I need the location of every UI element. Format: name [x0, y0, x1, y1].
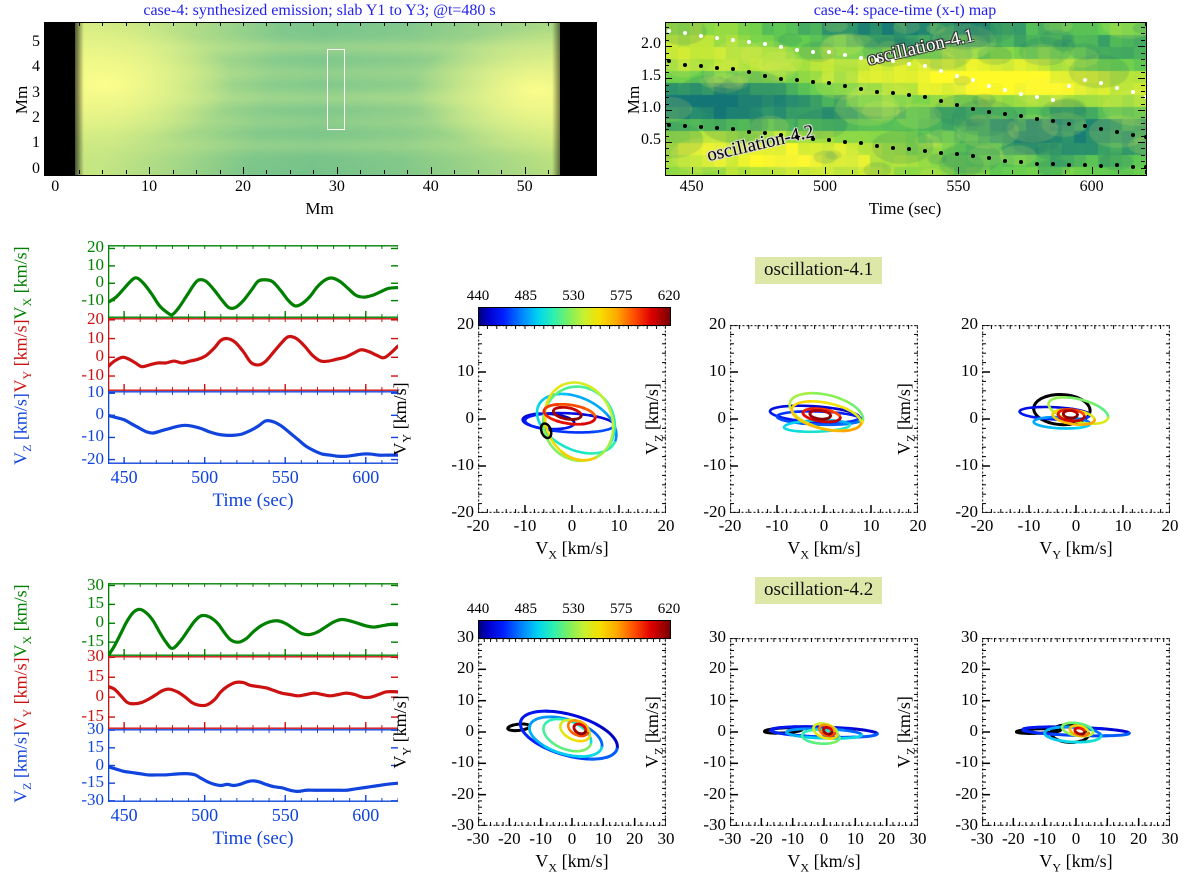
xtmap-track-dot: [1115, 130, 1119, 134]
emission-x-minor-tick: [220, 170, 221, 174]
xtmap-y-minor-tick: [1141, 110, 1145, 111]
timeseries-y-tick: 15: [68, 593, 104, 613]
timeseries-x-tick: 600: [338, 467, 394, 488]
emission-x-tick: 50: [503, 178, 547, 196]
xtmap-x-minor-tick: [852, 22, 853, 26]
xtmap-y-minor-tick: [1141, 72, 1145, 73]
emission-x-minor-tick: [360, 22, 361, 26]
colorbar-tick-label: 620: [645, 601, 693, 618]
timeseries-y-axis-label: VX [km/s]: [10, 246, 30, 319]
xtmap-track-dot: [875, 58, 879, 62]
emission-x-minor-tick: [266, 22, 267, 26]
xtmap-y-minor-tick: [665, 33, 669, 34]
axis-label-symbol: VX [km/s]: [535, 538, 608, 558]
xtmap-track-dot: [715, 66, 719, 70]
xtmap-x-minor-tick: [932, 22, 933, 26]
timeseries-panel-v_x: [108, 583, 398, 656]
xtmap-x-tick: 450: [667, 178, 717, 196]
xtmap-y-minor-tick: [665, 123, 669, 124]
axis-label-symbol: VZ [km/s]: [894, 696, 914, 768]
timeseries-y-tick: 0: [68, 612, 104, 632]
xtmap-y-minor-tick: [1141, 168, 1145, 169]
xtmap-track-dot: [1035, 117, 1039, 121]
colorbar-tick-label: 485: [502, 288, 550, 305]
emission-x-minor-tick: [525, 170, 526, 174]
xtmap-track-dot: [731, 38, 735, 42]
hodogram-y-tick: 20: [432, 658, 474, 678]
xtmap-track-dot: [747, 70, 751, 74]
xtmap-track-dot: [1003, 88, 1007, 92]
hodogram-y-tick: 10: [936, 690, 978, 710]
hodogram-y-tick: 10: [684, 690, 726, 710]
xtmap-y-minor-tick: [1141, 40, 1145, 41]
xtmap-x-minor-tick: [1092, 170, 1093, 174]
xtmap-track-dot: [1019, 160, 1023, 164]
xtmap-x-axis-label: Time (sec): [665, 199, 1145, 219]
xtmap-track-dot: [1131, 133, 1135, 137]
emission-x-tick: 0: [33, 178, 77, 196]
xtmap-track-dot: [1131, 90, 1135, 94]
hodogram-y-tick: 10: [432, 690, 474, 710]
xtmap-track-dot: [1099, 81, 1103, 85]
hodogram-y-tick: -10: [936, 752, 978, 772]
xtmap-x-minor-tick: [932, 170, 933, 174]
xtmap-track-dot: [763, 131, 767, 135]
emission-x-minor-tick: [79, 170, 80, 174]
xtmap-track-dot: [1003, 112, 1007, 116]
xtmap-y-minor-tick: [1141, 33, 1145, 34]
timeseries-y-tick: -10: [68, 290, 104, 310]
axis-label-symbol: VX [km/s]: [10, 246, 30, 319]
timeseries-x-tick: 550: [257, 805, 313, 826]
hodogram-x-tick: 30: [1146, 829, 1194, 849]
xtmap-x-minor-tick: [1012, 170, 1013, 174]
axis-label-symbol: VX [km/s]: [787, 851, 860, 871]
colorbar-tick-label: 440: [454, 288, 502, 305]
hodogram-x-tick: 0: [800, 516, 848, 536]
xtmap-x-minor-tick: [745, 170, 746, 174]
xtmap-x-minor-tick: [985, 170, 986, 174]
xtmap-y-minor-tick: [665, 65, 669, 66]
xtmap-x-minor-tick: [1065, 170, 1066, 174]
hodogram-y-tick: 20: [684, 658, 726, 678]
emission-y-tickmark: [44, 95, 51, 96]
xtmap-track-dot: [827, 138, 831, 142]
xtmap-track-dot: [763, 74, 767, 78]
xtmap-track-dot: [795, 48, 799, 52]
hodogram-x-tick: -10: [501, 516, 549, 536]
timeseries-x-tick: 500: [177, 805, 233, 826]
emission-x-minor-tick: [407, 22, 408, 26]
emission-x-minor-tick: [55, 170, 56, 174]
xtmap-track-dot: [1067, 84, 1071, 88]
xtmap-track-dot: [843, 140, 847, 144]
xtmap-y-minor-tick: [665, 110, 669, 111]
xtmap-track-dot: [1099, 164, 1103, 168]
xtmap-track-dot: [699, 125, 703, 129]
emission-x-minor-tick: [548, 22, 549, 26]
emission-y-tickmark: [588, 171, 595, 172]
emission-streak: [75, 119, 560, 125]
xtmap-x-minor-tick: [798, 22, 799, 26]
axis-label-symbol: VY [km/s]: [390, 695, 410, 768]
hodogram-y-tick: 20: [936, 314, 978, 334]
xtmap-y-minor-tick: [1141, 53, 1145, 54]
xtmap-y-minor-tick: [665, 148, 669, 149]
hodogram-x-tick: 0: [548, 516, 596, 536]
xtmap-panel-title: case-4: space-time (x-t) map: [665, 2, 1145, 20]
axis-label-symbol: VY [km/s]: [390, 382, 410, 455]
xtmap-y-minor-tick: [1141, 142, 1145, 143]
emission-x-minor-tick: [525, 22, 526, 26]
emission-x-minor-tick: [501, 22, 502, 26]
xtmap-x-minor-tick: [852, 170, 853, 174]
timeseries-x-tick: 600: [338, 805, 394, 826]
emission-y-axis-label: Mm: [12, 70, 32, 130]
emission-x-minor-tick: [243, 170, 244, 174]
emission-y-tickmark: [44, 120, 51, 121]
emission-roi-box: [327, 49, 345, 130]
hodogram-y-tick: 0: [432, 408, 474, 428]
emission-x-axis-label: Mm: [44, 199, 595, 219]
hodogram-y-axis-label: VZ [km/s]: [642, 325, 662, 513]
xtmap-x-minor-tick: [825, 22, 826, 26]
emission-heatmap: [44, 22, 597, 176]
section-badge-osc41: oscillation-4.1: [755, 257, 882, 284]
emission-y-tickmark: [588, 145, 595, 146]
colorbar-tick-label: 620: [645, 288, 693, 305]
emission-y-tickmark: [588, 95, 595, 96]
axis-label-symbol: VZ [km/s]: [642, 696, 662, 768]
axis-label-symbol: VY [km/s]: [10, 657, 30, 730]
xtmap-track-dot: [939, 151, 943, 155]
xtmap-x-minor-tick: [1145, 22, 1146, 26]
hodogram-x-axis-label: VY [km/s]: [982, 851, 1170, 876]
xtmap-track-dot: [1067, 122, 1071, 126]
timeseries-y-axis-label: VZ [km/s]: [10, 392, 30, 465]
xtmap-y-minor-tick: [665, 161, 669, 162]
axis-label-symbol: VY [km/s]: [1039, 851, 1112, 871]
xtmap-track-dot: [859, 141, 863, 145]
axis-label-symbol: VX [km/s]: [535, 851, 608, 871]
xtmap-track-dot: [699, 34, 703, 38]
xtmap-x-minor-tick: [665, 22, 666, 26]
xtmap-track-dot: [795, 135, 799, 139]
axis-label-symbol: VX [km/s]: [10, 584, 30, 657]
figure-canvas: case-4: synthesized emission; slab Y1 to…: [0, 0, 1200, 869]
timeseries-x-axis-label: Time (sec): [108, 828, 398, 850]
xtmap-heatmap: oscillation-4.1 oscillation-4.2: [665, 22, 1147, 176]
xtmap-track-dot: [731, 67, 735, 71]
xtmap-track-dot: [811, 50, 815, 54]
emission-x-minor-tick: [431, 170, 432, 174]
xtmap-track-dot: [1019, 114, 1023, 118]
timeseries-y-tick: 30: [68, 575, 104, 595]
xtmap-x-minor-tick: [1118, 22, 1119, 26]
emission-y-tick: 0: [18, 160, 40, 178]
hodogram-y-tick: 30: [936, 627, 978, 647]
hodogram-x-tick: 20: [1146, 516, 1194, 536]
xtmap-y-minor-tick: [665, 142, 669, 143]
xtmap-x-minor-tick: [905, 170, 906, 174]
hodogram-y-tick: 20: [936, 658, 978, 678]
timeseries-y-axis-label: VY [km/s]: [10, 319, 30, 392]
emission-streak: [75, 142, 560, 149]
section-badge-osc42: oscillation-4.2: [755, 577, 882, 604]
hodogram-y-tick: 10: [684, 361, 726, 381]
emission-x-minor-tick: [431, 22, 432, 26]
axis-label-symbol: VZ [km/s]: [894, 383, 914, 455]
emission-x-minor-tick: [478, 22, 479, 26]
emission-y-tick: 5: [18, 33, 40, 51]
xtmap-x-minor-tick: [772, 22, 773, 26]
xtmap-y-minor-tick: [665, 136, 669, 137]
xtmap-y-tick: 2.0: [625, 35, 661, 53]
hodogram-x-axis-label: VX [km/s]: [730, 538, 918, 563]
timeseries-x-tick: 550: [257, 467, 313, 488]
hodogram-y-tick: -10: [684, 455, 726, 475]
hodogram-x-axis-label: VX [km/s]: [478, 538, 666, 563]
xtmap-x-minor-tick: [1092, 22, 1093, 26]
xtmap-y-minor-tick: [665, 53, 669, 54]
hodogram-y-tick: 0: [936, 408, 978, 428]
colorbar-osc41: [478, 307, 671, 326]
colorbar-tick-label: 485: [502, 601, 550, 618]
hodogram-y-tick: 30: [432, 627, 474, 647]
hodogram-y-tick: -10: [432, 752, 474, 772]
xtmap-track-dot: [907, 93, 911, 97]
emission-x-minor-tick: [173, 22, 174, 26]
xtmap-track-dot: [811, 137, 815, 141]
hodogram-y-axis-label: VZ [km/s]: [642, 638, 662, 826]
colorbar-tick-label: 575: [597, 288, 645, 305]
xtmap-track-dot: [827, 81, 831, 85]
xtmap-x-minor-tick: [692, 170, 693, 174]
emission-x-minor-tick: [126, 22, 127, 26]
emission-x-minor-tick: [243, 22, 244, 26]
hodogram-y-tick: 0: [936, 721, 978, 741]
timeseries-panel-v_y: [108, 318, 398, 391]
timeseries-x-tick: 450: [96, 805, 152, 826]
hodogram-y-tick: 0: [684, 408, 726, 428]
hodogram-x-tick: -10: [753, 516, 801, 536]
xtmap-x-minor-tick: [798, 170, 799, 174]
xtmap-y-minor-tick: [1141, 155, 1145, 156]
emission-x-minor-tick: [196, 170, 197, 174]
timeseries-x-axis-label: Time (sec): [108, 490, 398, 512]
xtmap-y-tick: 0.5: [625, 131, 661, 149]
xtmap-track-dot: [987, 84, 991, 88]
hodogram-x-tick: 10: [847, 516, 895, 536]
hodogram-y-axis-label: VY [km/s]: [390, 638, 410, 826]
xtmap-y-minor-tick: [665, 155, 669, 156]
xtmap-x-minor-tick: [665, 170, 666, 174]
hodogram-y-tick: 20: [684, 314, 726, 334]
xtmap-y-minor-tick: [1141, 161, 1145, 162]
hodogram-y-tick: -10: [936, 455, 978, 475]
emission-x-minor-tick: [572, 22, 573, 26]
hodogram-x-tick: 10: [595, 516, 643, 536]
hodogram-y-tick: -30: [432, 815, 474, 835]
timeseries-y-tick: 20: [68, 309, 104, 329]
emission-right-edge: [552, 23, 596, 175]
xtmap-track-dot: [843, 84, 847, 88]
xtmap-y-minor-tick: [1141, 117, 1145, 118]
emission-x-minor-tick: [149, 22, 150, 26]
xtmap-track-dot: [683, 31, 687, 35]
emission-x-minor-tick: [360, 170, 361, 174]
xtmap-y-minor-tick: [665, 40, 669, 41]
xtmap-x-minor-tick: [718, 22, 719, 26]
xtmap-y-minor-tick: [1141, 46, 1145, 47]
timeseries-x-tick: 450: [96, 467, 152, 488]
xtmap-track-dot: [731, 127, 735, 131]
timeseries-y-tick: 30: [68, 646, 104, 666]
emission-x-minor-tick: [79, 22, 80, 26]
hodogram-y-tick: 30: [684, 627, 726, 647]
xtmap-y-minor-tick: [665, 168, 669, 169]
timeseries-y-tick: 0: [68, 346, 104, 366]
xtmap-track-dot: [955, 103, 959, 107]
hodogram-y-axis-label: VZ [km/s]: [894, 638, 914, 826]
xtmap-y-minor-tick: [1141, 78, 1145, 79]
xtmap-track-dot: [1099, 127, 1103, 131]
xtmap-track-dot: [891, 91, 895, 95]
emission-y-tickmark: [588, 69, 595, 70]
timeseries-y-tick: -10: [68, 426, 104, 446]
hodogram-x-tick: 30: [642, 829, 690, 849]
emission-x-minor-tick: [313, 170, 314, 174]
xtmap-y-minor-tick: [665, 104, 669, 105]
xtmap-x-minor-tick: [958, 22, 959, 26]
timeseries-y-axis-label: VZ [km/s]: [10, 730, 30, 803]
hodogram-x-tick: 10: [1099, 516, 1147, 536]
emission-x-minor-tick: [313, 22, 314, 26]
timeseries-y-tick: 15: [68, 666, 104, 686]
hodogram-panel: [730, 325, 918, 513]
xtmap-x-minor-tick: [718, 170, 719, 174]
xtmap-track-dot: [683, 63, 687, 67]
emission-x-minor-tick: [173, 170, 174, 174]
hodogram-y-tick: -20: [936, 784, 978, 804]
emission-x-minor-tick: [102, 170, 103, 174]
xtmap-x-minor-tick: [905, 22, 906, 26]
emission-x-minor-tick: [266, 170, 267, 174]
hodogram-y-tick: 10: [936, 361, 978, 381]
hodogram-y-tick: -30: [684, 815, 726, 835]
emission-y-tickmark: [588, 120, 595, 121]
xtmap-track-dot: [747, 130, 751, 134]
timeseries-panel-v_z: [108, 729, 398, 802]
timeseries-y-tick: 0: [68, 404, 104, 424]
xtmap-y-minor-tick: [1141, 104, 1145, 105]
xtmap-x-minor-tick: [878, 170, 879, 174]
xtmap-y-minor-tick: [665, 72, 669, 73]
xtmap-y-minor-tick: [1141, 27, 1145, 28]
hodogram-x-tick: 0: [1052, 516, 1100, 536]
xtmap-track-dot: [891, 146, 895, 150]
timeseries-y-axis-label: VY [km/s]: [10, 657, 30, 730]
xtmap-track-dot: [971, 154, 975, 158]
hodogram-panel: [982, 325, 1170, 513]
colorbar-osc42: [478, 620, 671, 639]
xtmap-track-dot: [1019, 92, 1023, 96]
timeseries-y-tick: -20: [68, 449, 104, 469]
hodogram-panel: [478, 325, 666, 513]
emission-x-tick: 40: [409, 178, 453, 196]
colorbar-tick-label: 440: [454, 601, 502, 618]
hodogram-panel: [982, 638, 1170, 826]
hodogram-y-tick: -20: [432, 784, 474, 804]
emission-x-minor-tick: [220, 22, 221, 26]
emission-x-tick: 30: [315, 178, 359, 196]
emission-x-minor-tick: [548, 170, 549, 174]
emission-x-minor-tick: [572, 170, 573, 174]
hodogram-y-tick: 0: [684, 721, 726, 741]
emission-y-tickmark: [44, 44, 51, 45]
hodogram-x-tick: -10: [1005, 516, 1053, 536]
hodogram-y-axis-label: VZ [km/s]: [894, 325, 914, 513]
hodogram-x-tick: 20: [642, 516, 690, 536]
xtmap-track-dot: [811, 80, 815, 84]
xtmap-track-dot: [1035, 162, 1039, 166]
xtmap-x-tick: 600: [1067, 178, 1117, 196]
emission-y-tickmark: [44, 171, 51, 172]
xtmap-track-dot: [907, 62, 911, 66]
xtmap-x-minor-tick: [878, 22, 879, 26]
hodogram-y-axis-label: VY [km/s]: [390, 325, 410, 513]
xtmap-x-minor-tick: [1038, 22, 1039, 26]
xtmap-track-dot: [827, 50, 831, 54]
timeseries-x-tick: 500: [177, 467, 233, 488]
hodogram-x-axis-label: VY [km/s]: [982, 538, 1170, 563]
xtmap-x-minor-tick: [692, 22, 693, 26]
emission-x-minor-tick: [149, 170, 150, 174]
emission-x-minor-tick: [55, 22, 56, 26]
xtmap-track-dot: [923, 95, 927, 99]
xtmap-x-minor-tick: [1012, 22, 1013, 26]
hodogram-y-tick: -30: [936, 815, 978, 835]
axis-label-symbol: VZ [km/s]: [10, 393, 30, 465]
xtmap-track-dot: [779, 77, 783, 81]
xtmap-track-dot: [779, 133, 783, 137]
emission-x-tick: 20: [221, 178, 265, 196]
emission-x-minor-tick: [337, 22, 338, 26]
emission-x-minor-tick: [290, 170, 291, 174]
xtmap-track-dot: [939, 69, 943, 73]
emission-x-minor-tick: [384, 22, 385, 26]
hodogram-y-tick: -20: [936, 502, 978, 522]
emission-panel-title: case-4: synthesized emission; slab Y1 to…: [44, 2, 595, 20]
hodogram-x-tick: 20: [894, 516, 942, 536]
xtmap-x-tick: 550: [933, 178, 983, 196]
xtmap-y-minor-tick: [1141, 91, 1145, 92]
hodogram-y-tick: -20: [432, 502, 474, 522]
axis-label-symbol: VZ [km/s]: [10, 731, 30, 803]
hodogram-panel: [478, 638, 666, 826]
xtmap-y-axis-label: Mm: [624, 70, 644, 130]
xtmap-track-dot: [1115, 86, 1119, 90]
xtmap-track-dot: [955, 152, 959, 156]
xtmap-y-minor-tick: [1141, 136, 1145, 137]
timeseries-panel-v_y: [108, 656, 398, 729]
emission-x-minor-tick: [407, 170, 408, 174]
xtmap-track-dot: [1067, 163, 1071, 167]
timeseries-y-tick: 0: [68, 686, 104, 706]
emission-y-tickmark: [44, 69, 51, 70]
xtmap-track-dot: [763, 42, 767, 46]
xtmap-y-minor-tick: [665, 46, 669, 47]
